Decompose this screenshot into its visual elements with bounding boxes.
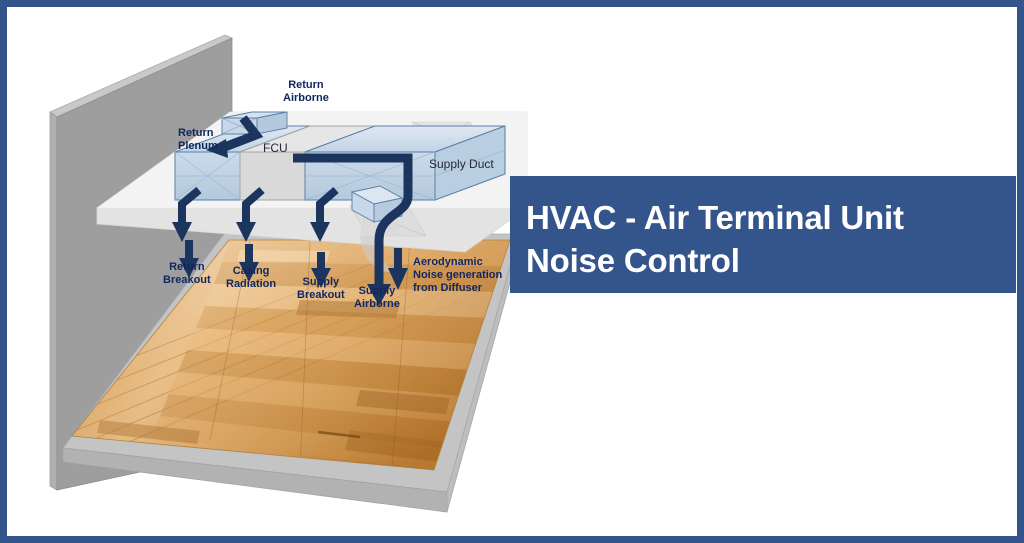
title-banner: HVAC - Air Terminal Unit Noise Control xyxy=(510,176,1016,293)
label-supply-breakout: Supply Breakout xyxy=(297,276,345,302)
title-line-2: Noise Control xyxy=(526,240,1016,283)
label-supply-duct: Supply Duct xyxy=(429,157,494,171)
label-return-breakout: Return Breakout xyxy=(163,261,211,287)
label-supply-airborne: Supply Airborne xyxy=(354,285,400,311)
label-fcu: FCU xyxy=(263,141,288,155)
title-line-1: HVAC - Air Terminal Unit xyxy=(526,197,1016,240)
label-aerodynamic-noise: Aerodynamic Noise generation from Diffus… xyxy=(413,256,502,295)
label-return-airborne: Return Airborne xyxy=(283,79,329,105)
hvac-diagram-page: Return Plenum FCU Supply Duct Return Air… xyxy=(0,0,1024,543)
label-return-plenum: Return Plenum xyxy=(178,127,218,153)
label-casing-radiation: Casing Radiation xyxy=(226,265,276,291)
